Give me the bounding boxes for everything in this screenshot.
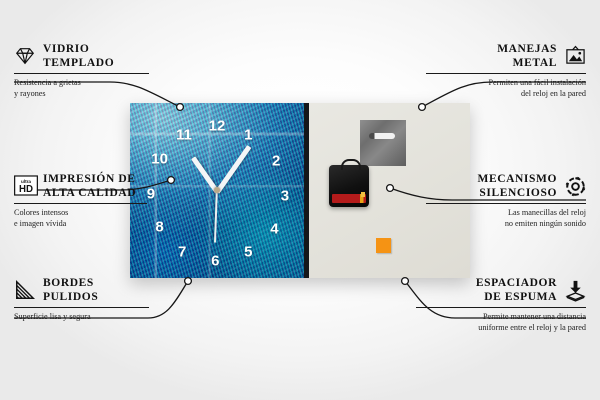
clock-numeral-3: 3 bbox=[281, 187, 289, 204]
callout-title-line2: DE ESPUMA bbox=[476, 290, 557, 304]
clock-numeral-1: 1 bbox=[244, 126, 252, 143]
callout-desc-line1: Resistencia a grietas bbox=[14, 77, 149, 88]
callout-desc-line1: Permite mantener una distancia bbox=[416, 311, 586, 322]
callout-manejas-metal: MANEJAS METAL Permiten una fácil instala… bbox=[426, 42, 586, 99]
callout-title-line2: ALTA CALIDAD bbox=[43, 186, 136, 200]
callout-desc-line1: Permiten una fácil instalación bbox=[426, 77, 586, 88]
callout-espaciador-de-espuma: ESPACIADOR DE ESPUMA Permite mantener un… bbox=[416, 276, 586, 333]
clock-numeral-11: 11 bbox=[176, 126, 192, 143]
clock-numeral-2: 2 bbox=[272, 152, 280, 169]
callout-desc-line2: no emiten ningún sonido bbox=[426, 218, 586, 229]
callout-desc-line1: Superficie lisa y segura bbox=[14, 311, 149, 322]
callout-rule bbox=[14, 73, 149, 74]
callout-title-line1: IMPRESIÓN DE bbox=[43, 172, 136, 186]
gear-icon bbox=[564, 175, 586, 197]
callout-desc-line1: Las manecillas del reloj bbox=[426, 207, 586, 218]
clock-minute-hand bbox=[215, 145, 251, 193]
hanger-slot bbox=[369, 133, 395, 139]
clock-center-cap bbox=[214, 187, 220, 193]
clock-numeral-10: 10 bbox=[151, 151, 168, 168]
callout-desc-line1: Colores intensos bbox=[14, 207, 147, 218]
polished-edge-icon bbox=[14, 279, 36, 301]
clock-numeral-4: 4 bbox=[270, 221, 278, 238]
callout-desc-line2: y rayones bbox=[14, 88, 149, 99]
callout-title-line1: MANEJAS bbox=[497, 42, 557, 56]
callout-vidrio-templado: VIDRIO TEMPLADO Resistencia a grietas y … bbox=[14, 42, 149, 99]
callout-rule bbox=[426, 73, 586, 74]
wire-dot-bordes bbox=[185, 278, 192, 285]
clock-numeral-12: 12 bbox=[209, 117, 226, 134]
callout-title-line1: ESPACIADOR bbox=[476, 276, 557, 290]
battery bbox=[332, 194, 366, 203]
svg-text:HD: HD bbox=[19, 184, 33, 195]
clock-numeral-5: 5 bbox=[244, 243, 252, 260]
battery-terminal bbox=[361, 192, 365, 197]
callout-title-line2: METAL bbox=[497, 56, 557, 70]
callout-rule bbox=[416, 307, 586, 308]
quartz-mechanism bbox=[329, 165, 369, 207]
callout-rule bbox=[14, 307, 149, 308]
clock-numeral-9: 9 bbox=[147, 186, 155, 203]
callout-title-line2: PULIDOS bbox=[43, 290, 98, 304]
callout-desc-line2: e imagen vívida bbox=[14, 218, 147, 229]
callout-title-line1: MECANISMO bbox=[477, 172, 557, 186]
callout-desc-line2: uniforme entre el reloj y la pared bbox=[416, 322, 586, 333]
mechanism-hook bbox=[341, 159, 361, 170]
callout-bordes-pulidos: BORDES PULIDOS Superficie lisa y segura bbox=[14, 276, 149, 322]
callout-desc-line2: del reloj en la pared bbox=[426, 88, 586, 99]
callout-title-line2: SILENCIOSO bbox=[477, 186, 557, 200]
wire-dot-espaciador bbox=[402, 278, 409, 285]
callout-impresion-alta-calidad: ultra HD IMPRESIÓN DE ALTA CALIDAD Color… bbox=[14, 172, 147, 229]
clock-numeral-6: 6 bbox=[211, 252, 219, 269]
metal-hanger-plate bbox=[360, 120, 406, 166]
picture-frame-icon bbox=[564, 45, 586, 67]
callout-mecanismo-silencioso: MECANISMO SILENCIOSO Las manecillas del … bbox=[426, 172, 586, 229]
callout-rule bbox=[14, 203, 147, 204]
clock-second-hand bbox=[214, 191, 217, 243]
diamond-icon bbox=[14, 45, 36, 67]
clock-numeral-8: 8 bbox=[155, 219, 163, 236]
clock-numeral-7: 7 bbox=[178, 243, 186, 260]
foam-spacer bbox=[376, 238, 391, 253]
callout-title-line2: TEMPLADO bbox=[43, 56, 114, 70]
ultra-hd-icon: ultra HD bbox=[14, 175, 36, 197]
callout-rule bbox=[426, 203, 586, 204]
product-image: 12 1 2 3 4 5 6 7 8 9 10 11 bbox=[130, 103, 470, 278]
callout-title-line1: BORDES bbox=[43, 276, 98, 290]
foam-spacer-icon bbox=[564, 279, 586, 301]
callout-title-line1: VIDRIO bbox=[43, 42, 114, 56]
infographic-canvas: 12 1 2 3 4 5 6 7 8 9 10 11 bbox=[0, 0, 600, 400]
clock-face: 12 1 2 3 4 5 6 7 8 9 10 11 bbox=[130, 103, 304, 278]
